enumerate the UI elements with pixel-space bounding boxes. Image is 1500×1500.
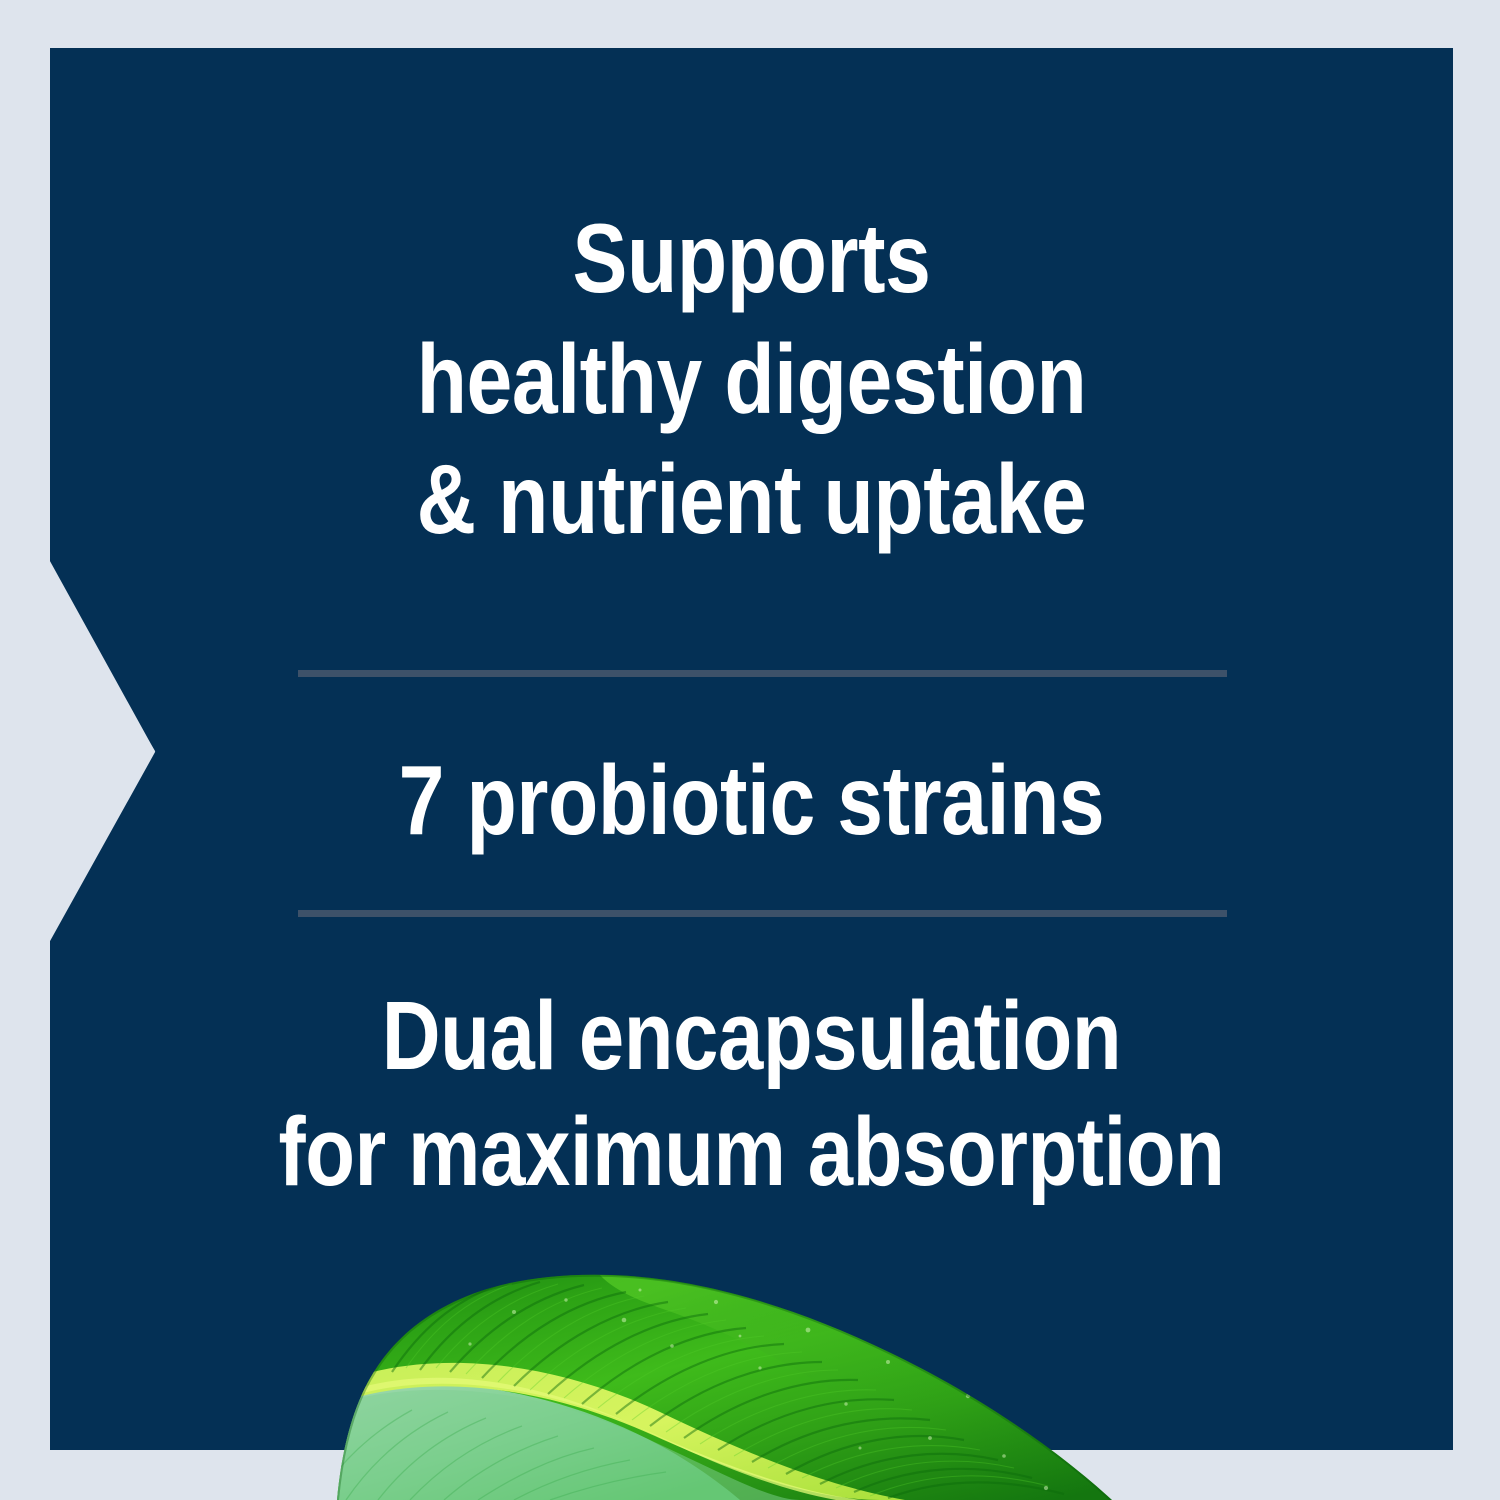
claim-strains-text: 7 probiotic strains <box>162 742 1341 860</box>
headline-line-1: Supports <box>162 198 1341 319</box>
headline-line-2: healthy digestion <box>162 319 1341 440</box>
divider-top <box>298 670 1227 677</box>
claim-absorption-line-1: Dual encapsulation <box>162 978 1341 1094</box>
claim-absorption-line-2: for maximum absorption <box>162 1094 1341 1210</box>
claim-dual-encapsulation: Dual encapsulation for maximum absorptio… <box>162 978 1341 1211</box>
poster-canvas: Supports healthy digestion & nutrient up… <box>0 0 1500 1500</box>
claim-probiotic-strains: 7 probiotic strains <box>162 742 1341 860</box>
divider-bottom <box>298 910 1227 917</box>
page-title: Supports healthy digestion & nutrient up… <box>162 198 1341 560</box>
headline-line-3: & nutrient uptake <box>162 439 1341 560</box>
